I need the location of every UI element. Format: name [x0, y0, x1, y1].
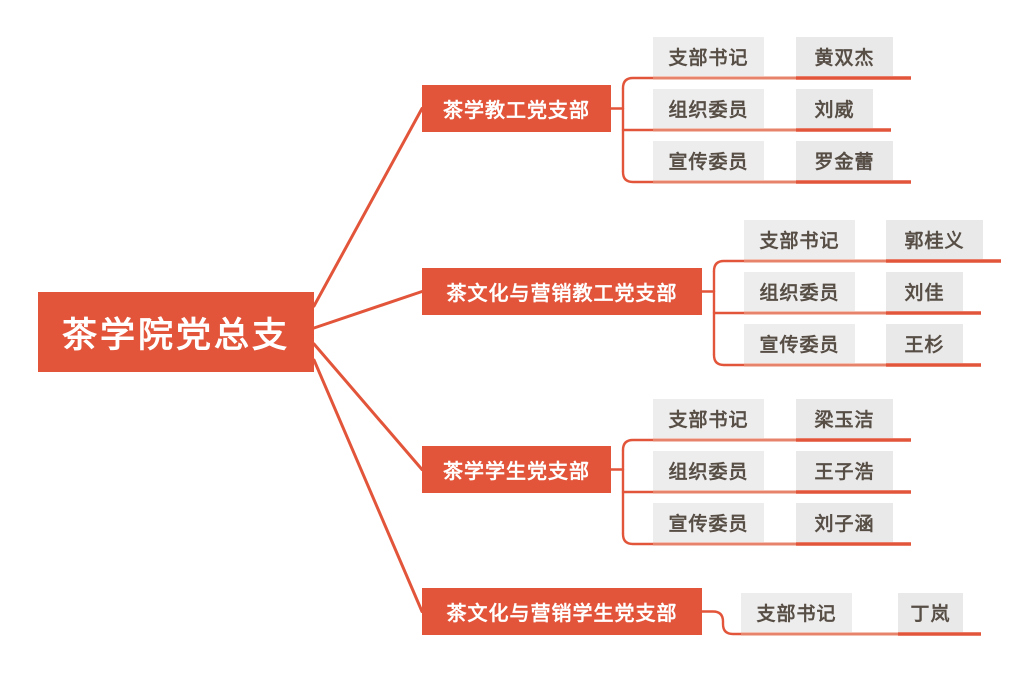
role-chip-1-2-label: 组织委员 [668, 95, 748, 122]
role-chip-1-1-label: 支部书记 [668, 43, 748, 70]
person-chip-3-2[interactable]: 王子浩 [796, 451, 893, 490]
person-chip-1-1[interactable]: 黄双杰 [796, 37, 893, 76]
person-chip-1-3[interactable]: 罗金蕾 [796, 141, 893, 180]
role-chip-4-1[interactable]: 支部书记 [741, 593, 852, 632]
member-elbow-2-3 [714, 355, 744, 365]
role-chip-2-2[interactable]: 组织委员 [744, 272, 855, 311]
person-chip-3-3[interactable]: 刘子涵 [796, 503, 893, 542]
branch-node-2-label: 茶文化与营销教工党支部 [447, 277, 678, 306]
root-node-label: 茶学院党总支 [62, 307, 290, 358]
root-node[interactable]: 茶学院党总支 [38, 292, 314, 372]
person-chip-1-2-label: 刘威 [814, 95, 854, 122]
branch-node-3[interactable]: 茶学学生党支部 [422, 446, 611, 493]
root-to-branch-connector-3 [314, 344, 422, 470]
role-chip-3-2-label: 组织委员 [668, 457, 748, 484]
person-chip-2-2-label: 刘佳 [904, 278, 944, 305]
member-elbow-3-1 [623, 440, 653, 450]
root-to-branch-connector-2 [314, 292, 422, 329]
role-chip-2-1-label: 支部书记 [759, 226, 839, 253]
role-chip-1-1[interactable]: 支部书记 [653, 37, 764, 76]
root-to-branch-connector-1 [314, 109, 422, 307]
branch-node-3-label: 茶学学生党支部 [443, 455, 590, 484]
branch-node-4[interactable]: 茶文化与营销学生党支部 [422, 588, 702, 635]
role-chip-4-1-label: 支部书记 [756, 599, 836, 626]
root-to-branch-connector-4 [314, 360, 422, 612]
role-chip-3-1-label: 支部书记 [668, 405, 748, 432]
member-elbow-1-1 [623, 78, 653, 88]
role-chip-2-1[interactable]: 支部书记 [744, 220, 855, 259]
person-chip-4-1-label: 丁岚 [910, 599, 950, 626]
member-elbow-4-1 [702, 612, 741, 635]
role-chip-3-2[interactable]: 组织委员 [653, 451, 764, 490]
role-chip-1-3[interactable]: 宣传委员 [653, 141, 764, 180]
role-chip-2-3-label: 宣传委员 [759, 330, 839, 357]
member-elbow-2-1 [714, 261, 744, 271]
person-chip-2-3[interactable]: 王杉 [886, 324, 963, 363]
branch-node-1-label: 茶学教工党支部 [443, 94, 590, 123]
role-chip-3-3-label: 宣传委员 [668, 509, 748, 536]
role-chip-3-3[interactable]: 宣传委员 [653, 503, 764, 542]
person-chip-2-1[interactable]: 郭桂义 [886, 220, 983, 259]
person-chip-2-2[interactable]: 刘佳 [886, 272, 963, 311]
person-chip-1-3-label: 罗金蕾 [814, 147, 874, 174]
person-chip-3-3-label: 刘子涵 [814, 509, 874, 536]
person-chip-3-1-label: 梁玉洁 [814, 405, 874, 432]
person-chip-1-2[interactable]: 刘威 [796, 89, 873, 128]
person-chip-4-1[interactable]: 丁岚 [898, 593, 963, 632]
person-chip-2-3-label: 王杉 [904, 330, 944, 357]
org-chart-canvas: 茶学院党总支 茶学教工党支部 支部书记 黄双杰 组织委员 刘威 宣传委员 罗金蕾… [0, 0, 1024, 683]
person-chip-3-1[interactable]: 梁玉洁 [796, 399, 893, 438]
role-chip-2-3[interactable]: 宣传委员 [744, 324, 855, 363]
branch-node-4-label: 茶文化与营销学生党支部 [447, 597, 678, 626]
role-chip-1-3-label: 宣传委员 [668, 147, 748, 174]
branch-node-2[interactable]: 茶文化与营销教工党支部 [422, 268, 702, 315]
person-chip-2-1-label: 郭桂义 [904, 226, 964, 253]
role-chip-1-2[interactable]: 组织委员 [653, 89, 764, 128]
branch-node-1[interactable]: 茶学教工党支部 [422, 85, 611, 132]
person-chip-1-1-label: 黄双杰 [814, 43, 874, 70]
role-chip-2-2-label: 组织委员 [759, 278, 839, 305]
member-elbow-3-3 [623, 534, 653, 544]
member-elbow-1-3 [623, 172, 653, 182]
person-chip-3-2-label: 王子浩 [814, 457, 874, 484]
role-chip-3-1[interactable]: 支部书记 [653, 399, 764, 438]
